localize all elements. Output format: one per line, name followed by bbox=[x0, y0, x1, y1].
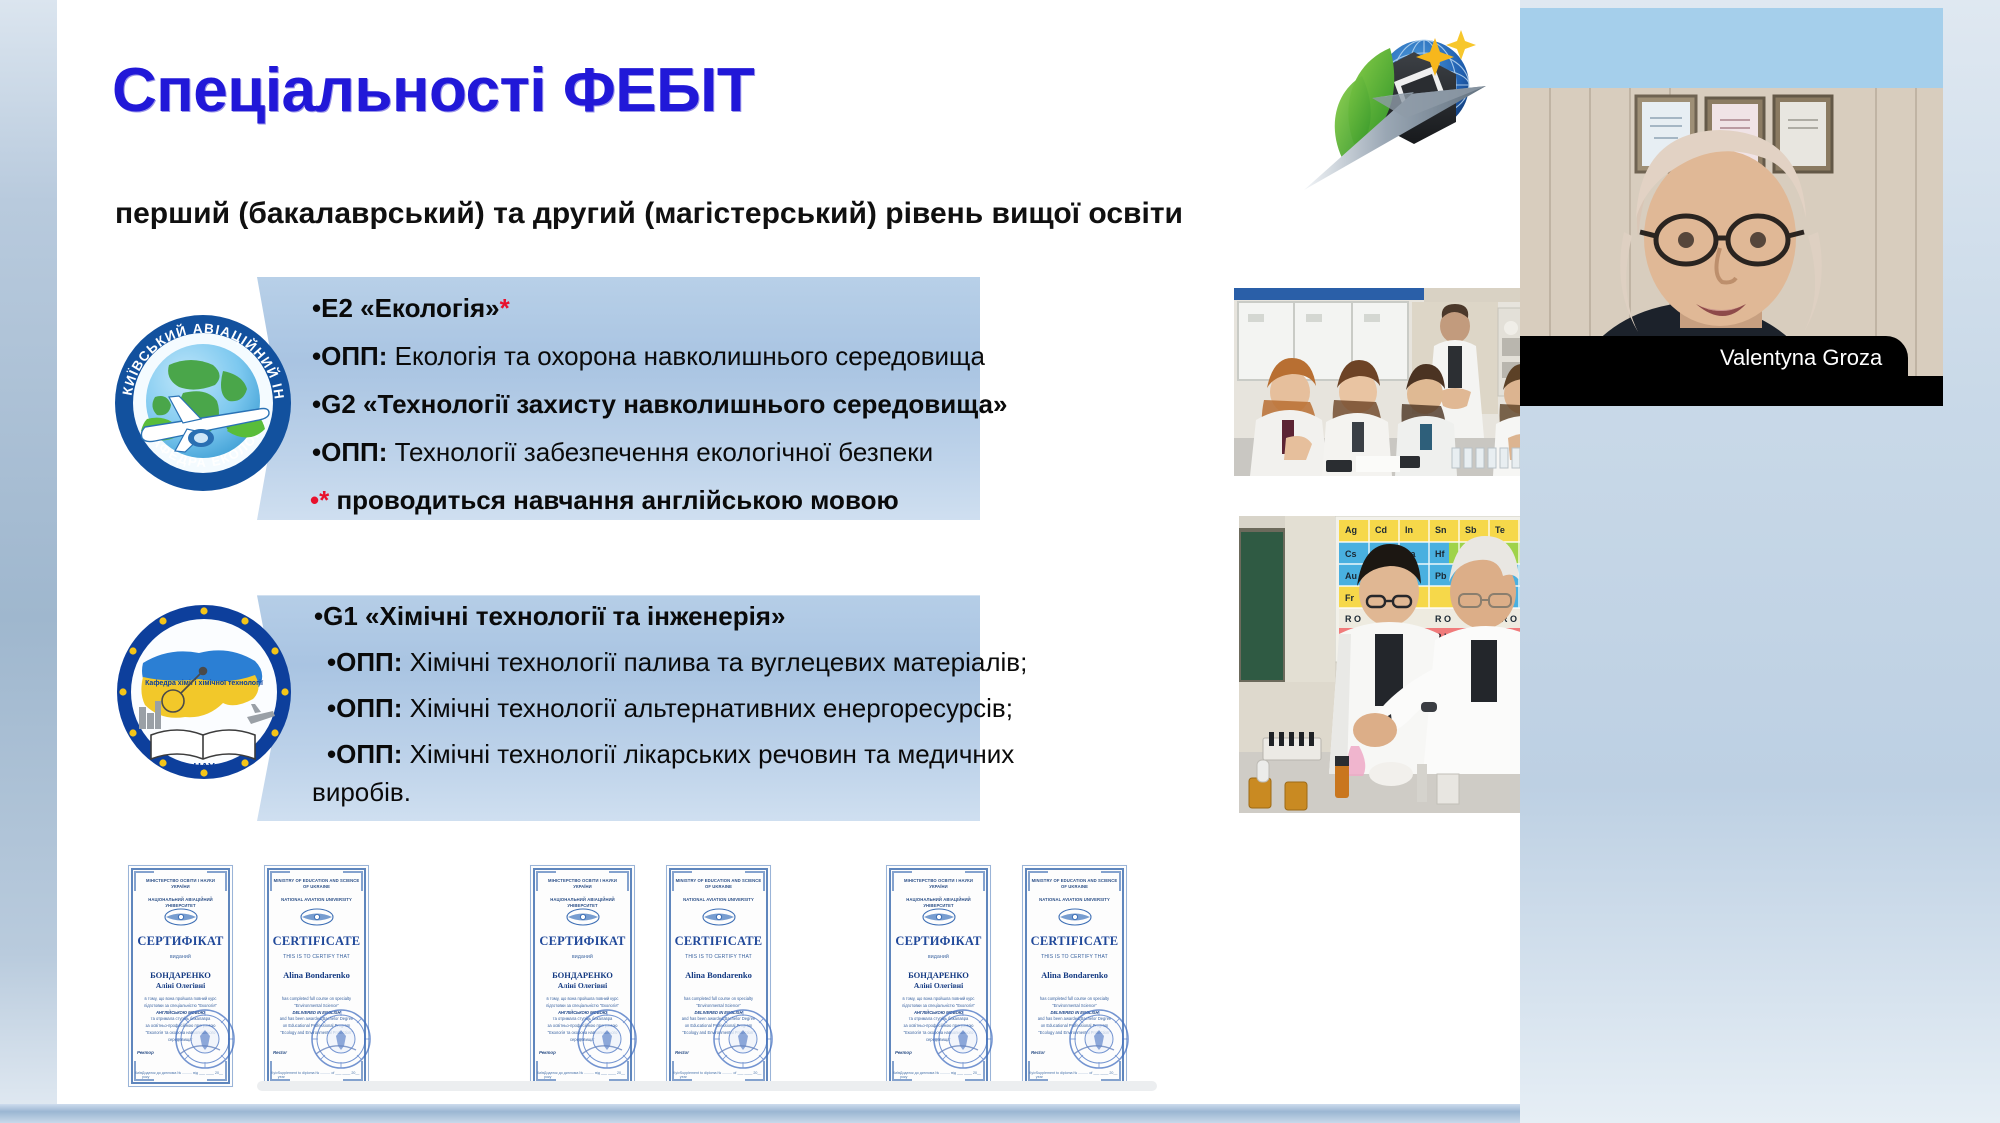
certificate-ministry-header: MINISTRY OF EDUCATION AND SCIENCEOF UKRA… bbox=[672, 878, 765, 903]
list-item-strong: ОПП: bbox=[321, 437, 387, 467]
video-panel: Valentyna Groza bbox=[1520, 0, 2000, 1123]
certificate-heading: CERTIFICATE bbox=[665, 934, 772, 949]
aviation-emblem-icon bbox=[1058, 908, 1092, 926]
svg-text:Sb: Sb bbox=[1465, 525, 1477, 535]
svg-text:Hf: Hf bbox=[1435, 549, 1445, 559]
list-item: •G1 «Хімічні технології та інженерія» bbox=[314, 603, 785, 629]
certificate-footer: КиївДодаток до диплома № .......... від … bbox=[537, 1071, 628, 1079]
certificate-subheading: THIS IS TO CERTIFY THAT bbox=[1029, 954, 1120, 960]
certificate-footer: KyivSupplement to diploma № .......... o… bbox=[1029, 1071, 1120, 1079]
certificate-ministry-header: MINISTRY OF EDUCATION AND SCIENCEOF UKRA… bbox=[1028, 878, 1121, 903]
certificate-diploma-ref: Додаток до диплома № .......... від ___ … bbox=[900, 1071, 984, 1079]
bullet-glyph: • bbox=[310, 485, 319, 515]
svg-text:Sn: Sn bbox=[1435, 525, 1447, 535]
bullet-glyph: • bbox=[312, 293, 321, 323]
certificate-thumbnail: МІНІСТЕРСТВО ОСВІТИ І НАУКИУКРАЇНИНАЦІОН… bbox=[127, 864, 234, 1088]
presentation-slide: Спеціальності ФЕБІТ перший (бакалаврськи… bbox=[57, 0, 1520, 1104]
bullet-glyph: • bbox=[312, 341, 321, 371]
list-item-strong: ОПП: bbox=[336, 693, 402, 723]
bullet-glyph: • bbox=[327, 647, 336, 677]
certificate-city: Kyiv bbox=[1029, 1071, 1036, 1079]
list-item: •G2 «Технології захисту навколишнього се… bbox=[312, 391, 1007, 417]
slide-left-margin bbox=[0, 0, 57, 1123]
official-seal-stamp-icon bbox=[932, 1008, 994, 1070]
list-item: •ОПП: Хімічні технології палива та вугле… bbox=[327, 649, 1027, 675]
certificate-footer: КиївДодаток до диплома № .......... від … bbox=[135, 1071, 226, 1079]
certificate-city: Київ bbox=[893, 1071, 900, 1079]
aviation-emblem-icon bbox=[922, 908, 956, 926]
svg-text:R O: R O bbox=[1435, 614, 1451, 624]
list-item-rest: Екологія та охорона навколишнього середо… bbox=[387, 341, 985, 371]
svg-text:Pb: Pb bbox=[1435, 571, 1447, 581]
certificate-city: Київ bbox=[537, 1071, 544, 1079]
certificate-diploma-ref: Додаток до диплома № .......... від ___ … bbox=[142, 1071, 226, 1079]
list-item-rest: виробів. bbox=[312, 777, 411, 807]
certificate-ministry-header: МІНІСТЕРСТВО ОСВІТИ І НАУКИУКРАЇНИНАЦІОН… bbox=[892, 878, 985, 909]
certificate-heading: СЕРТИФІКАТ bbox=[127, 934, 234, 949]
certificate-thumbnail: МІНІСТЕРСТВО ОСВІТИ І НАУКИУКРАЇНИНАЦІОН… bbox=[885, 864, 992, 1088]
participant-name-text: Valentyna Groza bbox=[1720, 345, 1882, 371]
certificate-signature-label: Rector bbox=[273, 1050, 287, 1055]
certificate-heading: СЕРТИФІКАТ bbox=[529, 934, 636, 949]
asterisk-marker: * bbox=[319, 485, 329, 515]
official-seal-stamp-icon bbox=[576, 1008, 638, 1070]
list-item-strong: E2 «Екологія» bbox=[321, 293, 499, 323]
certificate-signature-label: Ректор bbox=[137, 1050, 154, 1055]
svg-text:Au: Au bbox=[1345, 571, 1357, 581]
official-seal-stamp-icon bbox=[174, 1008, 236, 1070]
ecology-department-seal-icon: КИЇВСЬКИЙ АВІАЦІЙНИЙ ІНСТИТУТ КАФЕДРА ЕК… bbox=[113, 313, 293, 493]
page-title: Спеціальності ФЕБІТ bbox=[112, 55, 754, 126]
participant-video-tile[interactable]: Valentyna Groza bbox=[1520, 8, 1943, 406]
official-seal-stamp-icon bbox=[712, 1008, 774, 1070]
certificate-subheading: виданий bbox=[893, 954, 984, 960]
video-bottom-bar bbox=[1520, 376, 1943, 406]
list-item: •ОПП: Хімічні технології лікарських речо… bbox=[327, 741, 1014, 767]
certificate-thumbnail: MINISTRY OF EDUCATION AND SCIENCEOF UKRA… bbox=[665, 864, 772, 1088]
certificate-city: Kyiv bbox=[673, 1071, 680, 1079]
certificate-heading: CERTIFICATE bbox=[263, 934, 370, 949]
certificate-recipient-given: Аліні Олегівні bbox=[533, 981, 632, 990]
certificate-thumbnail: MINISTRY OF EDUCATION AND SCIENCEOF UKRA… bbox=[263, 864, 370, 1088]
certificate-subheading: виданий bbox=[135, 954, 226, 960]
bullet-glyph: • bbox=[327, 739, 336, 769]
list-item-rest: Хімічні технології лікарських речовин та… bbox=[402, 739, 1014, 769]
list-item-footnote: •* проводиться навчання англійською мово… bbox=[310, 487, 899, 513]
svg-text:Cs: Cs bbox=[1345, 549, 1357, 559]
list-item-strong: G1 «Хімічні технології та інженерія» bbox=[323, 601, 785, 631]
certificate-ministry-header: МІНІСТЕРСТВО ОСВІТИ І НАУКИУКРАЇНИНАЦІОН… bbox=[134, 878, 227, 909]
aviation-emblem-icon bbox=[566, 908, 600, 926]
slide-bottom-border bbox=[0, 1104, 1520, 1123]
list-item: •E2 «Екологія»* bbox=[312, 295, 510, 321]
bullet-glyph: • bbox=[314, 601, 323, 631]
slide-scrollbar[interactable] bbox=[257, 1081, 1157, 1091]
svg-text:R O: R O bbox=[1345, 614, 1361, 624]
svg-text:Te: Te bbox=[1495, 525, 1505, 535]
list-item-rest: проводиться навчання англійською мовою bbox=[329, 485, 898, 515]
certificate-diploma-ref: Supplement to diploma № .......... of __… bbox=[1036, 1071, 1120, 1079]
bullet-glyph: • bbox=[327, 693, 336, 723]
certificate-heading: CERTIFICATE bbox=[1021, 934, 1128, 949]
list-item: •ОПП: Екологія та охорона навколишнього … bbox=[312, 343, 985, 369]
list-item-rest: Хімічні технології альтернативних енерго… bbox=[402, 693, 1013, 723]
svg-text:Кафедра хімії і хімічної техно: Кафедра хімії і хімічної технології bbox=[145, 679, 264, 687]
certificate-city: Київ bbox=[135, 1071, 142, 1079]
certificate-footer: KyivSupplement to diploma № .......... o… bbox=[673, 1071, 764, 1079]
certificate-recipient-surname: Alina Bondarenko bbox=[669, 970, 768, 980]
certificate-recipient-given: Аліні Олегівні bbox=[131, 981, 230, 990]
certificate-signature-label: Rector bbox=[675, 1050, 689, 1055]
svg-text:Cd: Cd bbox=[1375, 525, 1387, 535]
certificate-subheading: виданий bbox=[537, 954, 628, 960]
official-seal-stamp-icon bbox=[310, 1008, 372, 1070]
list-item: •ОПП: Хімічні технології альтернативних … bbox=[327, 695, 1013, 721]
official-seal-stamp-icon bbox=[1068, 1008, 1130, 1070]
febit-faculty-logo-icon bbox=[1302, 22, 1487, 192]
list-item-strong: ОПП: bbox=[321, 341, 387, 371]
chemistry-text-group: •G1 «Хімічні технології та інженерія» •О… bbox=[257, 581, 980, 821]
certificate-subheading: THIS IS TO CERTIFY THAT bbox=[673, 954, 764, 960]
certificate-footer: КиївДодаток до диплома № .......... від … bbox=[893, 1071, 984, 1079]
aviation-emblem-icon bbox=[300, 908, 334, 926]
list-item-rest: Хімічні технології палива та вуглецевих … bbox=[402, 647, 1027, 677]
asterisk-marker: * bbox=[500, 293, 510, 323]
certificate-thumbnail: MINISTRY OF EDUCATION AND SCIENCEOF UKRA… bbox=[1021, 864, 1128, 1088]
svg-text:Fr: Fr bbox=[1345, 593, 1354, 603]
list-item: •ОПП: Технології забезпечення екологічно… bbox=[312, 439, 933, 465]
chemistry-department-seal-icon: Кафедра хімії і хімічної технології bbox=[115, 603, 293, 781]
certificate-signature-label: Rector bbox=[1031, 1050, 1045, 1055]
certificate-city: Kyiv bbox=[271, 1071, 278, 1079]
list-item-strong: G2 «Технології захисту навколишнього сер… bbox=[321, 389, 1007, 419]
certificate-signature-label: Ректор bbox=[539, 1050, 556, 1055]
participant-name-label: Valentyna Groza bbox=[1520, 336, 1908, 380]
certificate-diploma-ref: Supplement to diploma № .......... of __… bbox=[278, 1071, 362, 1079]
aviation-emblem-icon bbox=[164, 908, 198, 926]
certificate-recipient-surname: БОНДАРЕНКО bbox=[131, 970, 230, 980]
page-subtitle: перший (бакалаврський) та другий (магіст… bbox=[115, 197, 1183, 231]
screen-share-view: Спеціальності ФЕБІТ перший (бакалаврськи… bbox=[0, 0, 2000, 1123]
certificate-ministry-header: МІНІСТЕРСТВО ОСВІТИ І НАУКИУКРАЇНИНАЦІОН… bbox=[536, 878, 629, 909]
list-item-strong: ОПП: bbox=[336, 647, 402, 677]
svg-text:НАУ: НАУ bbox=[193, 761, 215, 773]
professor-student-lab-photo: AgCdIn SnSbTe IXe CsBaLa HfTaRe Os AuHgT… bbox=[1239, 516, 1520, 813]
certificate-recipient-surname: Alina Bondarenko bbox=[1025, 970, 1124, 980]
certificate-subheading: THIS IS TO CERTIFY THAT bbox=[271, 954, 362, 960]
certificate-diploma-ref: Додаток до диплома № .......... від ___ … bbox=[544, 1071, 628, 1079]
certificate-recipient-surname: БОНДАРЕНКО bbox=[533, 970, 632, 980]
certificate-recipient-given: Аліні Олегівні bbox=[889, 981, 988, 990]
students-chemistry-lab-photo bbox=[1234, 288, 1520, 476]
svg-text:In: In bbox=[1405, 525, 1413, 535]
bullet-glyph: • bbox=[312, 389, 321, 419]
certificate-heading: СЕРТИФІКАТ bbox=[885, 934, 992, 949]
ecology-text-group: •E2 «Екологія»* •ОПП: Екологія та охорон… bbox=[257, 277, 980, 520]
certificate-recipient-surname: Alina Bondarenko bbox=[267, 970, 366, 980]
bullet-glyph: • bbox=[312, 437, 321, 467]
certificate-recipient-surname: БОНДАРЕНКО bbox=[889, 970, 988, 980]
list-item-strong: ОПП: bbox=[336, 739, 402, 769]
certificate-thumbnail: МІНІСТЕРСТВО ОСВІТИ І НАУКИУКРАЇНИНАЦІОН… bbox=[529, 864, 636, 1088]
aviation-emblem-icon bbox=[702, 908, 736, 926]
certificate-ministry-header: MINISTRY OF EDUCATION AND SCIENCEOF UKRA… bbox=[270, 878, 363, 903]
list-item-continuation: виробів. bbox=[312, 779, 411, 805]
certificate-signature-label: Ректор bbox=[895, 1050, 912, 1055]
svg-text:Ag: Ag bbox=[1345, 525, 1357, 535]
certificate-footer: KyivSupplement to diploma № .......... o… bbox=[271, 1071, 362, 1079]
certificate-diploma-ref: Supplement to diploma № .......... of __… bbox=[680, 1071, 764, 1079]
list-item-rest: Технології забезпечення екологічної безп… bbox=[387, 437, 933, 467]
